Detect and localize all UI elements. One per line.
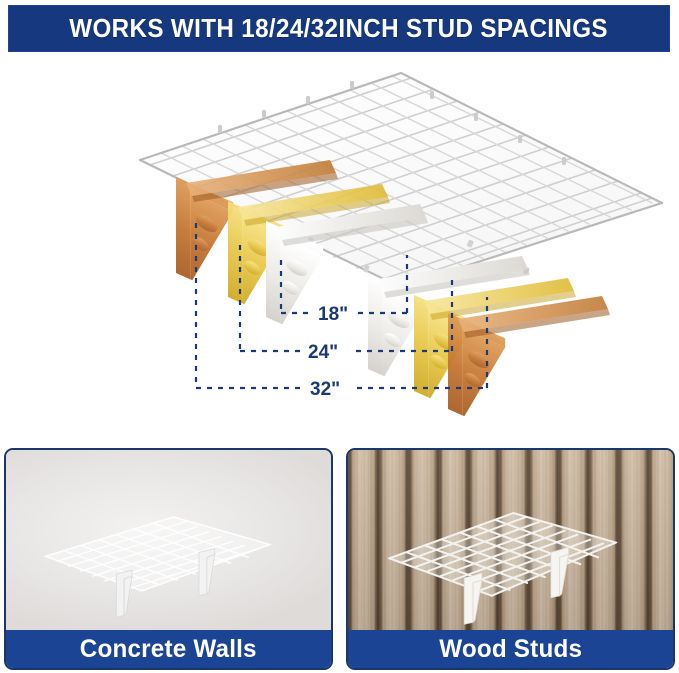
concrete-wall-photo: [6, 450, 331, 630]
dimension-label-24: 24": [308, 342, 338, 363]
wood-slat-surface: [348, 450, 673, 630]
bracket-copper-right: [448, 296, 610, 433]
header-banner: WORKS WITH 18/24/32INCH STUD SPACINGS: [8, 5, 670, 52]
hero-diagram: 18" 24" 32": [0, 55, 679, 433]
dimension-label-18: 18": [318, 304, 348, 325]
panel-concrete-walls[interactable]: Concrete Walls: [4, 448, 333, 670]
panel-wood-studs[interactable]: Wood Studs: [346, 448, 675, 670]
wood-stud-photo: [348, 450, 673, 630]
mounting-surface-panels: Concrete Walls: [0, 440, 679, 673]
concrete-wall-surface: [6, 450, 331, 630]
panel-caption-text-concrete: Concrete Walls: [80, 635, 257, 664]
shelf-diagram-svg: 18" 24" 32": [0, 55, 679, 433]
panel-caption-wood: Wood Studs: [348, 630, 673, 668]
dimension-label-32: 32": [310, 379, 340, 400]
header-title: WORKS WITH 18/24/32INCH STUD SPACINGS: [70, 13, 609, 44]
panel-caption-concrete: Concrete Walls: [6, 630, 331, 668]
panel-caption-text-wood: Wood Studs: [439, 635, 582, 664]
